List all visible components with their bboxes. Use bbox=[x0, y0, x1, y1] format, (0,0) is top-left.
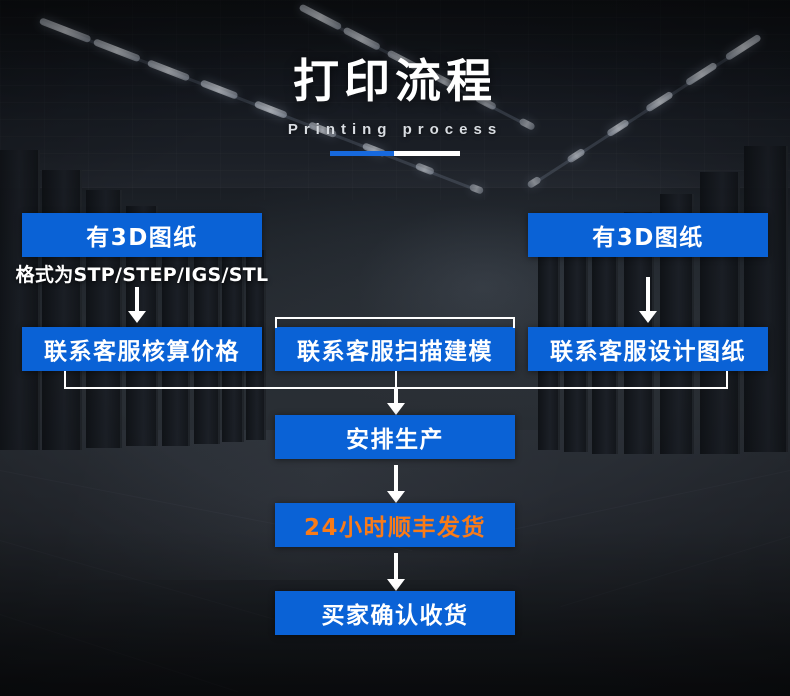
arrow-down-to-shipping bbox=[386, 465, 406, 503]
divider-segment-blue bbox=[330, 151, 394, 156]
connector-bracket-middle-top bbox=[275, 317, 515, 328]
page-title: 打印流程 bbox=[0, 58, 790, 105]
arrow-down-to-production bbox=[386, 389, 406, 415]
printing-process-infographic: 打印流程 Printing process 有3D图纸 格式为STP/STEP/… bbox=[0, 0, 790, 696]
flow-box-contact-service-quote[interactable]: 联系客服核算价格 bbox=[22, 327, 262, 371]
connector-bracket-merge bbox=[64, 371, 728, 389]
flow-box-contact-service-design[interactable]: 联系客服设计图纸 bbox=[528, 327, 768, 371]
divider-segment-white bbox=[394, 151, 460, 156]
flow-caption-file-formats: 格式为STP/STEP/IGS/STL bbox=[12, 260, 272, 287]
flow-box-arrange-production[interactable]: 安排生产 bbox=[275, 415, 515, 459]
arrow-down-left-column bbox=[127, 287, 147, 323]
flow-box-24h-sf-express-shipping[interactable]: 24小时顺丰发货 bbox=[275, 503, 515, 547]
flow-box-has-3d-drawing-right[interactable]: 有3D图纸 bbox=[528, 213, 768, 257]
flow-box-has-3d-drawing-left[interactable]: 有3D图纸 bbox=[22, 213, 262, 257]
flow-box-contact-service-scan-model[interactable]: 联系客服扫描建模 bbox=[275, 327, 515, 371]
page-subtitle: Printing process bbox=[0, 121, 790, 138]
arrow-down-right-column bbox=[638, 277, 658, 323]
arrow-down-to-buyer-confirm bbox=[386, 553, 406, 591]
header: 打印流程 Printing process bbox=[0, 58, 790, 138]
flow-box-buyer-confirm-receipt[interactable]: 买家确认收货 bbox=[275, 591, 515, 635]
title-divider bbox=[330, 151, 460, 156]
